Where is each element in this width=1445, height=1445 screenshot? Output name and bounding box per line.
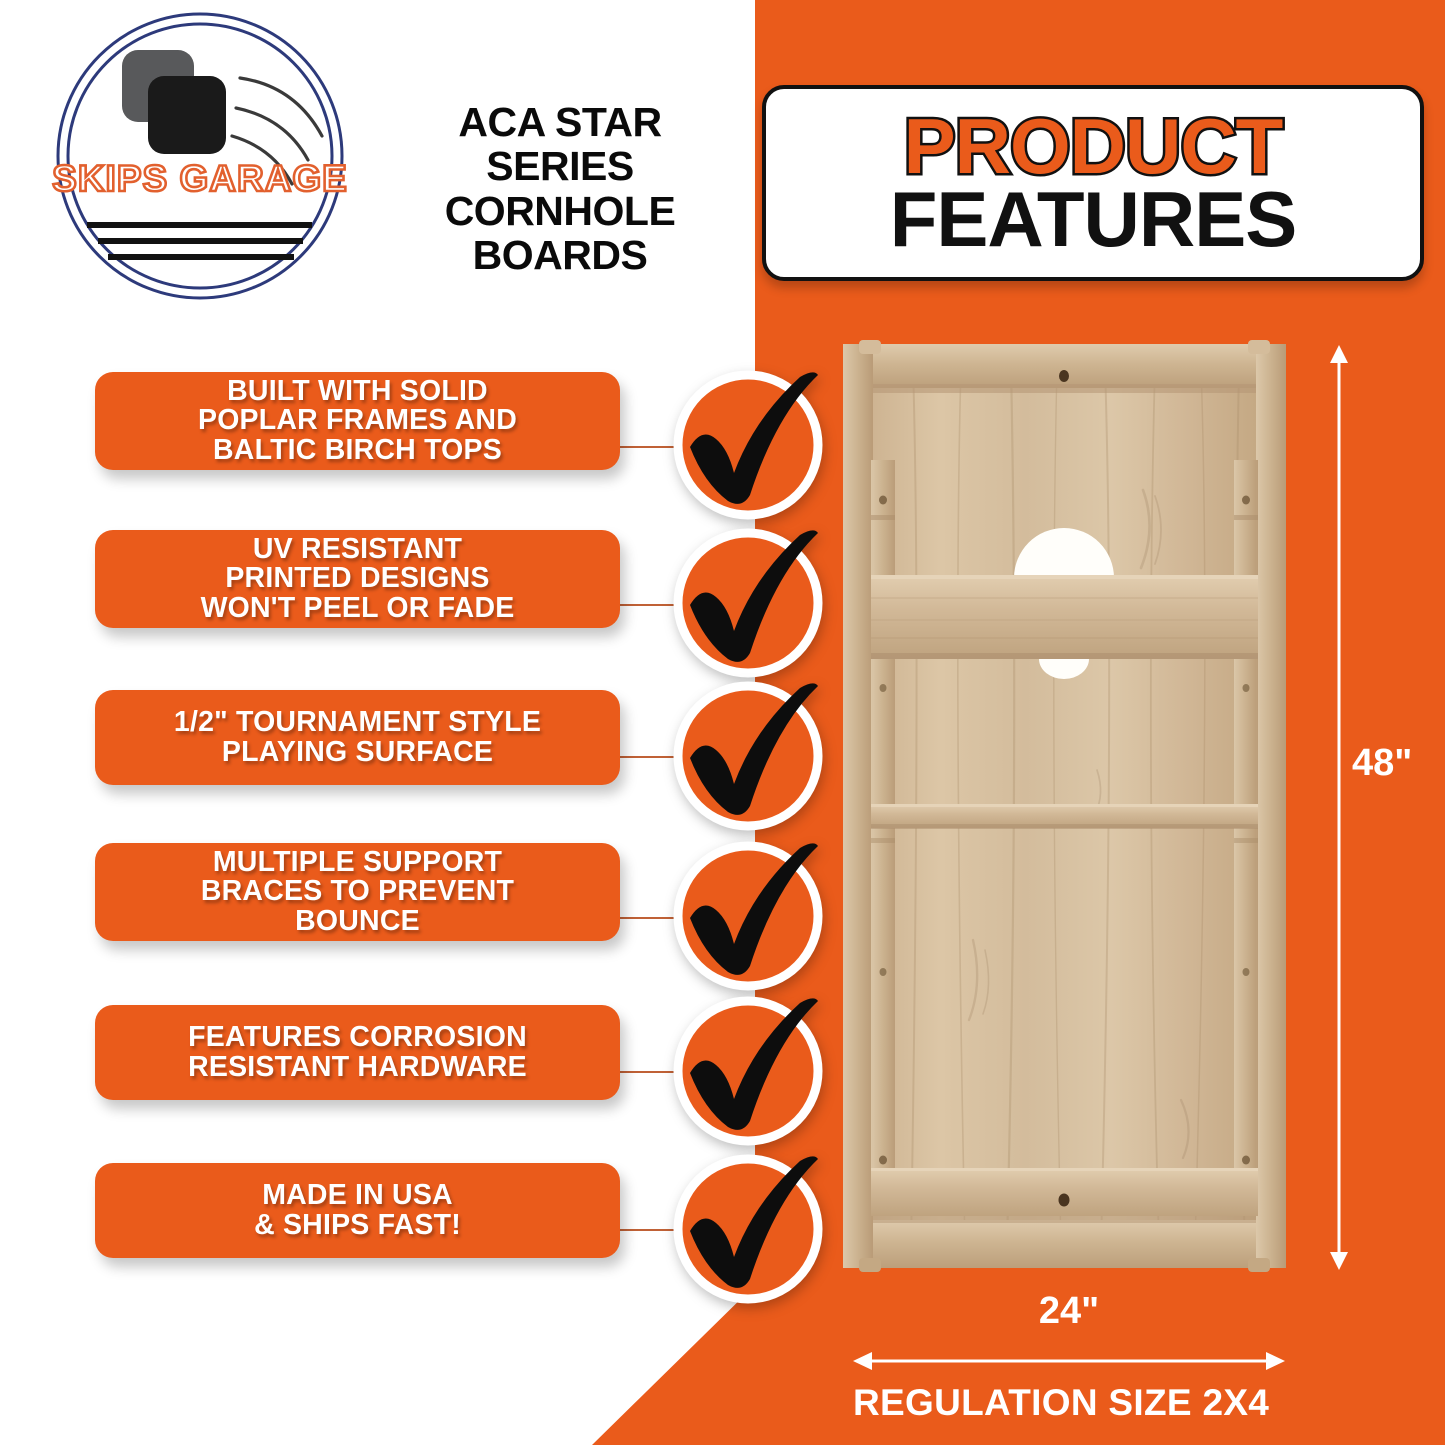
square-front-icon — [148, 76, 226, 154]
feature-pill[interactable]: UV RESISTANT PRINTED DESIGNS WON'T PEEL … — [95, 530, 620, 628]
checkmark-icon — [672, 369, 824, 521]
feature-label: BUILT WITH SOLID POPLAR FRAMES AND BALTI… — [182, 369, 533, 472]
height-dimension-arrow — [1327, 345, 1351, 1270]
motion-arc-icon — [236, 108, 308, 160]
feature-row: 1/2" TOURNAMENT STYLE PLAYING SURFACE — [0, 690, 830, 840]
regulation-size-note: REGULATION SIZE 2X4 — [853, 1382, 1333, 1424]
page-title: ACA STAR SERIES CORNHOLE BOARDS — [385, 100, 735, 277]
brand-logo: SKIPS GARAGE — [40, 8, 360, 308]
cornhole-board-image — [843, 340, 1286, 1272]
feature-label: 1/2" TOURNAMENT STYLE PLAYING SURFACE — [158, 700, 557, 774]
feature-label: UV RESISTANT PRINTED DESIGNS WON'T PEEL … — [185, 527, 531, 630]
checkmark-icon — [672, 527, 824, 679]
logo-rule-icon — [108, 254, 294, 260]
width-dimension-arrow — [853, 1350, 1285, 1372]
checkmark-icon — [672, 995, 824, 1147]
feature-pill[interactable]: FEATURES CORROSION RESISTANT HARDWARE — [95, 1005, 620, 1100]
banner-line-features: FEATURES — [890, 182, 1297, 257]
checkmark-icon — [672, 840, 824, 992]
checkmark-icon — [672, 680, 824, 832]
infographic-page: SKIPS GARAGE ACA STAR SERIES CORNHOLE BO… — [0, 0, 1445, 1445]
feature-pill[interactable]: BUILT WITH SOLID POPLAR FRAMES AND BALTI… — [95, 372, 620, 470]
feature-label: MADE IN USA & SHIPS FAST! — [238, 1173, 477, 1247]
feature-row: UV RESISTANT PRINTED DESIGNS WON'T PEEL … — [0, 530, 830, 680]
feature-pill[interactable]: MADE IN USA & SHIPS FAST! — [95, 1163, 620, 1258]
logo-rule-icon — [87, 222, 312, 228]
logo-rule-icon — [98, 238, 303, 244]
feature-row: BUILT WITH SOLID POPLAR FRAMES AND BALTI… — [0, 372, 830, 522]
feature-pill[interactable]: MULTIPLE SUPPORT BRACES TO PREVENT BOUNC… — [95, 843, 620, 941]
feature-row: MADE IN USA & SHIPS FAST! — [0, 1163, 830, 1313]
feature-label: MULTIPLE SUPPORT BRACES TO PREVENT BOUNC… — [185, 840, 530, 943]
banner-line-product: PRODUCT — [904, 109, 1283, 184]
feature-row: MULTIPLE SUPPORT BRACES TO PREVENT BOUNC… — [0, 843, 830, 993]
feature-pill[interactable]: 1/2" TOURNAMENT STYLE PLAYING SURFACE — [95, 690, 620, 785]
checkmark-icon — [672, 1153, 824, 1305]
width-dimension-label: 24" — [853, 1290, 1285, 1333]
logo-wordmark: SKIPS GARAGE — [40, 158, 360, 200]
product-features-banner: PRODUCT FEATURES — [762, 85, 1424, 281]
height-dimension-label: 48" — [1352, 742, 1412, 785]
feature-row: FEATURES CORROSION RESISTANT HARDWARE — [0, 1005, 830, 1155]
feature-label: FEATURES CORROSION RESISTANT HARDWARE — [172, 1015, 543, 1089]
